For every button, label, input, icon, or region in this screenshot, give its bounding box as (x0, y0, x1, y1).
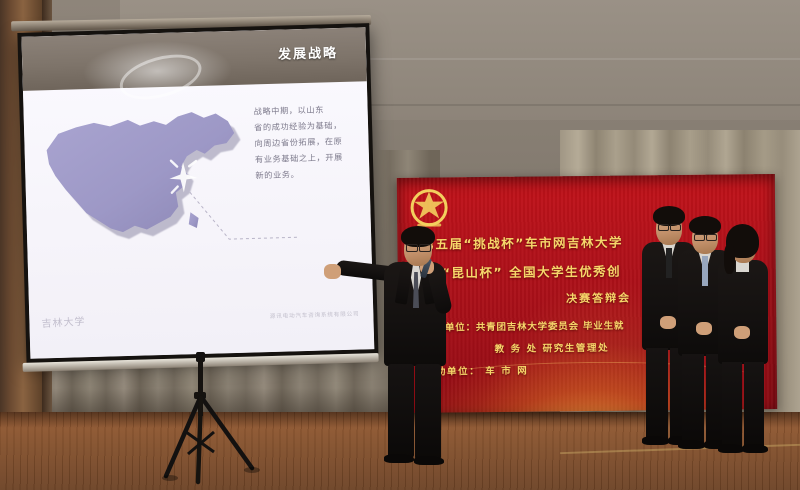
presenter-glasses-right (419, 244, 431, 252)
presentation-scene: 第五届“挑战杯”车市网吉林大学 “昆山杯” 全国大学生优秀创 决赛答辩会 主办单… (0, 0, 800, 490)
slide-body-text: 战略中期，以山东 省的成功经验为基础， 向周边省份拓展，在原 有业务基础之上，开… (253, 101, 363, 184)
student-three-hair-side (724, 244, 735, 274)
slide-footer-company: 源讯电动汽车咨询系统有限公司 (179, 310, 359, 323)
student-three-shoe-left (718, 444, 744, 453)
student-three (716, 218, 774, 453)
student-three-leg-right (744, 362, 764, 448)
slide-body-line-5: 新的业务。 (255, 165, 363, 184)
student-three-shoe-right (742, 444, 768, 453)
presenter-pointing-hand (324, 264, 341, 279)
presenter-leg-left (388, 364, 414, 458)
slide-watermark: 吉林大学 (41, 312, 86, 330)
projection-screen-unit: 发展战略 (17, 23, 378, 371)
screen-frame: 发展战略 (17, 23, 378, 363)
presenter (340, 218, 480, 468)
china-map-graphic (37, 94, 256, 260)
student-two-hands (696, 322, 712, 335)
banner-departments-line: 教 务 处 研究生管理处 (494, 340, 609, 355)
student-two-shoe-left (678, 440, 705, 449)
student-two-glasses-left (694, 234, 705, 241)
student-two-leg-left (682, 354, 704, 444)
presenter-leg-right (415, 364, 441, 460)
presenter-shoe-left (384, 454, 414, 463)
student-one-glasses-left (658, 224, 669, 231)
student-three-hands (734, 326, 750, 339)
callout-dashed-line (188, 185, 300, 260)
banner-line-3: 决赛答辩会 (566, 290, 631, 307)
presenter-glasses-left (406, 244, 418, 252)
student-one-shoe-left (642, 436, 669, 445)
student-two-tie (702, 256, 708, 286)
student-three-torso (718, 260, 768, 364)
slide-title: 发展战略 (278, 42, 339, 63)
student-one-hands (660, 316, 676, 329)
screen-surface: 发展战略 (21, 27, 374, 358)
student-one-tie (666, 248, 672, 278)
presenter-shoe-right (414, 456, 444, 465)
student-one-leg-left (646, 348, 668, 440)
student-three-leg-left (722, 362, 742, 448)
